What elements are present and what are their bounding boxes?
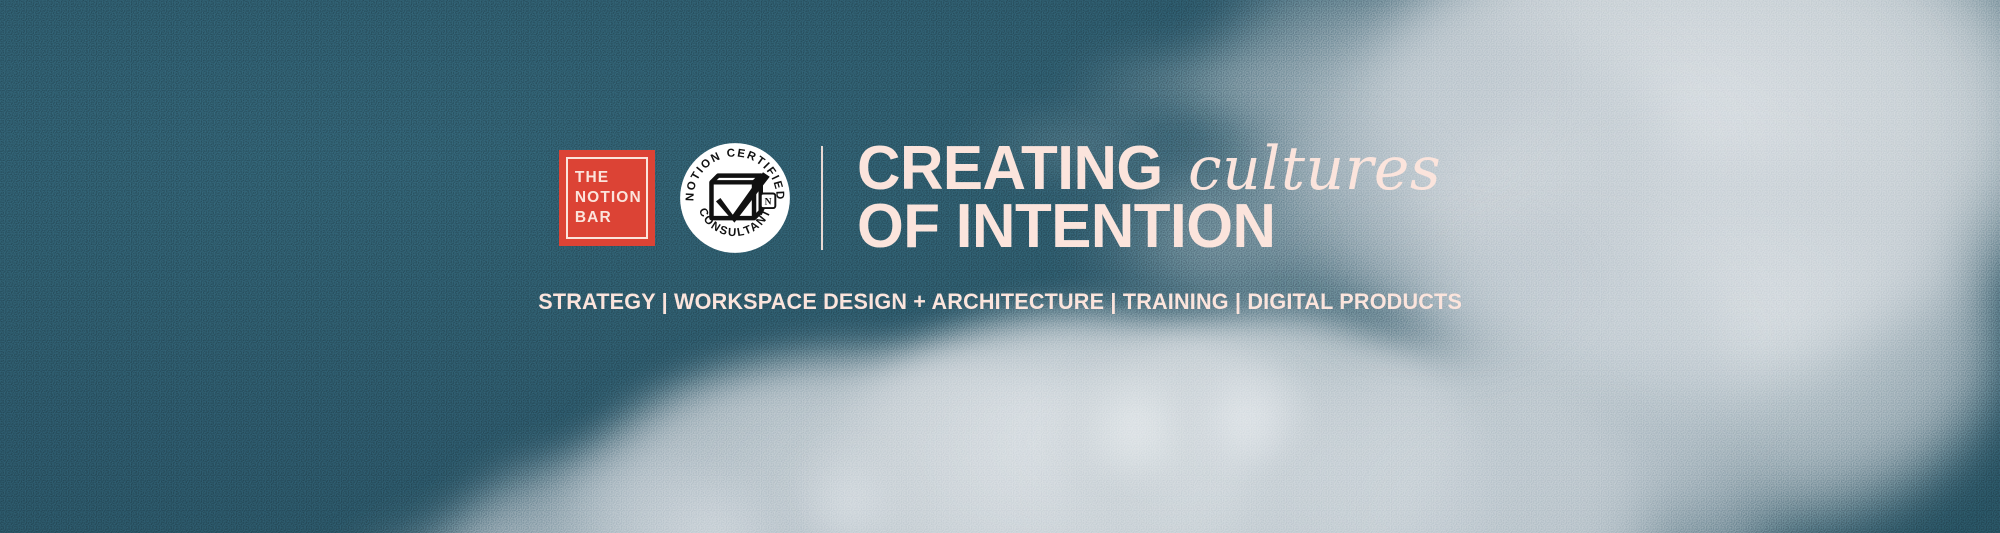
svg-text:N: N [764,197,771,207]
headline-of-intention: OF INTENTION [857,198,1275,256]
headline-line-2: OF INTENTION [857,198,1441,256]
brand-lockup: THE NOTION BAR NOTION CERTIFIED CONSULTA… [559,140,1441,255]
notion-certified-consultant-badge[interactable]: NOTION CERTIFIED CONSULTANT N [679,142,791,254]
badge-notion-n-mark: N [761,193,776,208]
vertical-divider [821,146,823,250]
notion-bar-hero-banner: THE NOTION BAR NOTION CERTIFIED CONSULTA… [0,0,2000,533]
the-notion-bar-logo[interactable]: THE NOTION BAR [559,150,655,246]
services-tagline: STRATEGY | WORKSPACE DESIGN + ARCHITECTU… [538,289,1462,315]
headline: CREATINGcultures OF INTENTION [857,140,1441,255]
banner-content: THE NOTION BAR NOTION CERTIFIED CONSULTA… [0,0,2000,533]
headline-line-1: CREATINGcultures [857,140,1441,198]
logo-wordmark-text: THE NOTION BAR [572,168,642,227]
headline-creating: CREATING [857,140,1163,198]
